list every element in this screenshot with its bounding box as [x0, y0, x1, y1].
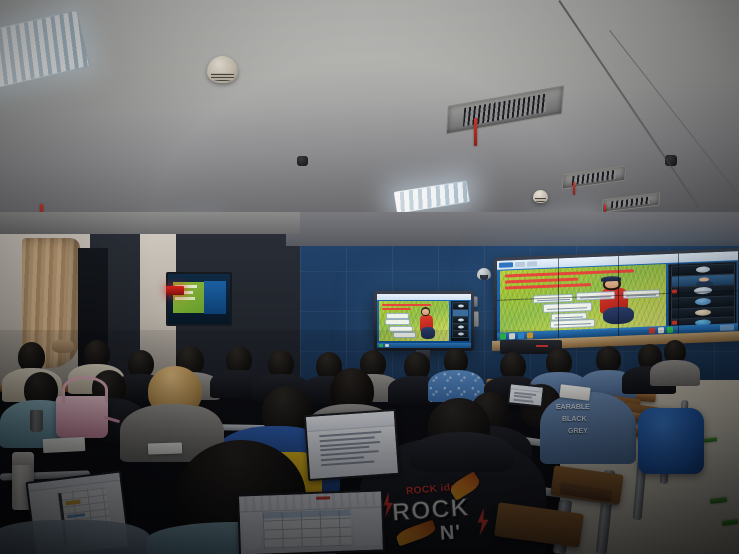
laptop-screen[interactable]: [304, 409, 400, 481]
shared-screen-content: [379, 301, 449, 341]
lecture-hall-photo: EARABLE BLACK GREY ROCK idol ROCK N': [0, 0, 739, 554]
taskbar-icon[interactable]: [649, 328, 655, 333]
presenter-legs: [421, 327, 435, 338]
taskbar-icon[interactable]: [667, 327, 673, 332]
document-line: [322, 461, 375, 467]
meeting-title-bar: [377, 294, 471, 300]
handbag-handle: [62, 376, 108, 403]
smoke-detector: [533, 190, 548, 203]
participant-sidebar[interactable]: [451, 301, 469, 341]
callout-2: [385, 319, 411, 325]
callout-3: [389, 326, 413, 332]
laptop-screen[interactable]: [507, 382, 545, 408]
laptop-foreground[interactable]: [237, 489, 385, 554]
taskbar-icon[interactable]: [658, 328, 664, 333]
taskbar-icon[interactable]: [509, 334, 515, 339]
hoodie-hood: [410, 432, 514, 472]
blue-backpack[interactable]: [638, 408, 704, 474]
smoke-detector: [207, 56, 238, 83]
sprinkler-pipe: [474, 118, 477, 146]
secondary-monitor[interactable]: [374, 291, 474, 351]
wall-soffit-left: [0, 212, 300, 234]
notebook-paper: [43, 437, 86, 453]
laptop-screen[interactable]: [237, 489, 385, 554]
denim-jacket-text-line3: GREY: [568, 428, 588, 435]
system-clock[interactable]: [720, 325, 734, 331]
main-video-wall[interactable]: [494, 248, 739, 344]
curtain-tieback: [52, 340, 74, 353]
secondary-monitor-screen[interactable]: [377, 294, 471, 348]
denim-jacket-text-line1: EARABLE: [556, 404, 590, 411]
taskbar-icon[interactable]: [527, 333, 533, 338]
console-led: [536, 345, 548, 347]
document-line: [320, 441, 380, 447]
coffee-cup[interactable]: [30, 410, 43, 432]
denim-jacket-text-line2: BLACK: [562, 416, 587, 423]
presenter-face: [422, 309, 428, 315]
dome-camera: [477, 268, 491, 280]
app-ribbon: [306, 411, 395, 432]
sidebar-panel: [242, 513, 260, 550]
student-back-row: [650, 360, 700, 386]
side-wall-monitor[interactable]: [166, 272, 232, 326]
start-button[interactable]: [379, 344, 383, 347]
document-line: [321, 457, 363, 462]
student-denim-jacket: [540, 392, 636, 464]
wall-soffit: [286, 212, 739, 246]
avatar: [596, 346, 621, 373]
mute-indicator: [672, 321, 677, 325]
laptop-midground[interactable]: [304, 409, 400, 481]
foreground-blur-left: [0, 520, 150, 554]
callout-1: [386, 313, 409, 319]
subtitle-line-1: [382, 304, 431, 306]
participant-tile-5[interactable]: [452, 330, 469, 338]
red-led-display: [166, 286, 184, 295]
callout-4: [393, 332, 416, 338]
subtitle-line-2: [382, 308, 411, 310]
sprinkler-pipe: [573, 182, 575, 195]
ceiling-speaker: [297, 156, 308, 166]
sidebar-panel: [353, 509, 380, 546]
document-line: [321, 451, 379, 457]
taskbar-icon[interactable]: [518, 333, 524, 338]
taskbar-icon[interactable]: [385, 344, 389, 347]
start-button[interactable]: [500, 334, 506, 339]
notebook-paper: [148, 442, 182, 454]
ribbon-accent: [316, 496, 330, 499]
laptop-right[interactable]: [507, 382, 545, 408]
